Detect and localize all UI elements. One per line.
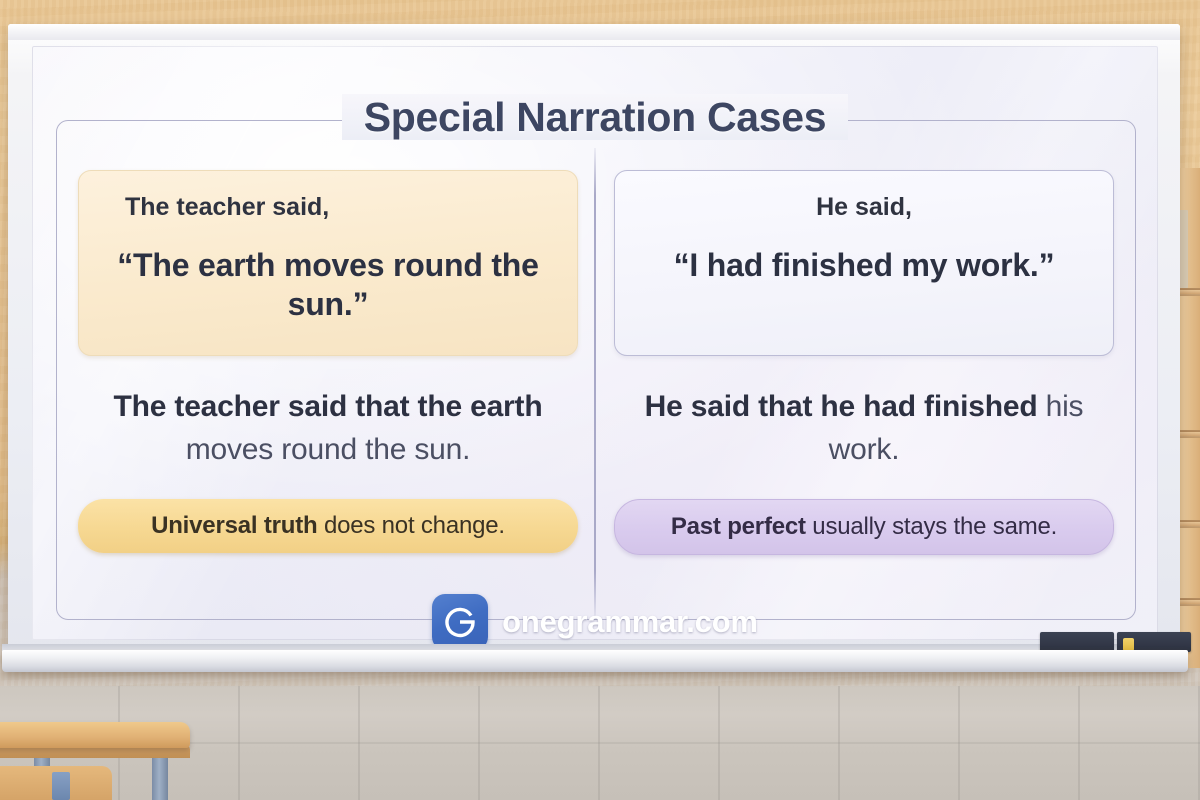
column-universal-truth: The teacher said, “The earth moves round… — [78, 170, 578, 553]
desk-leg-right — [152, 752, 168, 800]
board-eraser-1 — [1040, 632, 1114, 652]
rule-note-bold-left: Universal truth — [151, 512, 317, 539]
rule-note-left: Universal truth does not change. — [78, 499, 578, 553]
board-content: Special Narration Cases The teacher said… — [32, 46, 1158, 640]
whiteboard-ledge — [2, 650, 1188, 672]
reported-bold-right: He said that he had finished — [645, 390, 1038, 423]
direct-quote-left: “The earth moves round the sun.” — [103, 246, 553, 324]
direct-quote-right: “I had finished my work.” — [639, 246, 1089, 285]
reported-speech-right: He said that he had finished his work. — [614, 386, 1114, 471]
reported-speech-left: The teacher said that the earth moves ro… — [78, 386, 578, 471]
rule-note-right: Past perfect usually stays the same. — [614, 499, 1114, 555]
rule-note-light-right: usually stays the same. — [812, 513, 1057, 540]
page-title: Special Narration Cases — [32, 94, 1158, 141]
student-desk — [0, 722, 190, 748]
page-title-text: Special Narration Cases — [342, 94, 849, 140]
column-divider — [594, 148, 596, 618]
reported-light-left: moves round the sun. — [186, 433, 471, 466]
desk-book — [52, 772, 70, 800]
brand-name: onegrammar.com — [502, 604, 758, 640]
direct-speech-card-right: He said, “I had finished my work.” — [614, 170, 1114, 356]
rule-note-light-left: does not change. — [324, 512, 505, 539]
rule-note-bold-right: Past perfect — [671, 513, 806, 540]
classroom-scene: Special Narration Cases The teacher said… — [0, 0, 1200, 800]
whiteboard-top-bevel — [8, 24, 1180, 40]
reported-bold-left: The teacher said that the earth — [114, 390, 543, 423]
column-past-perfect: He said, “I had finished my work.” He sa… — [614, 170, 1114, 555]
brand-footer: onegrammar.com — [32, 594, 1158, 650]
direct-speech-card-left: The teacher said, “The earth moves round… — [78, 170, 578, 356]
onegrammar-logo-icon — [432, 594, 488, 650]
attribution-right: He said, — [639, 193, 1089, 222]
attribution-left: The teacher said, — [103, 193, 553, 222]
